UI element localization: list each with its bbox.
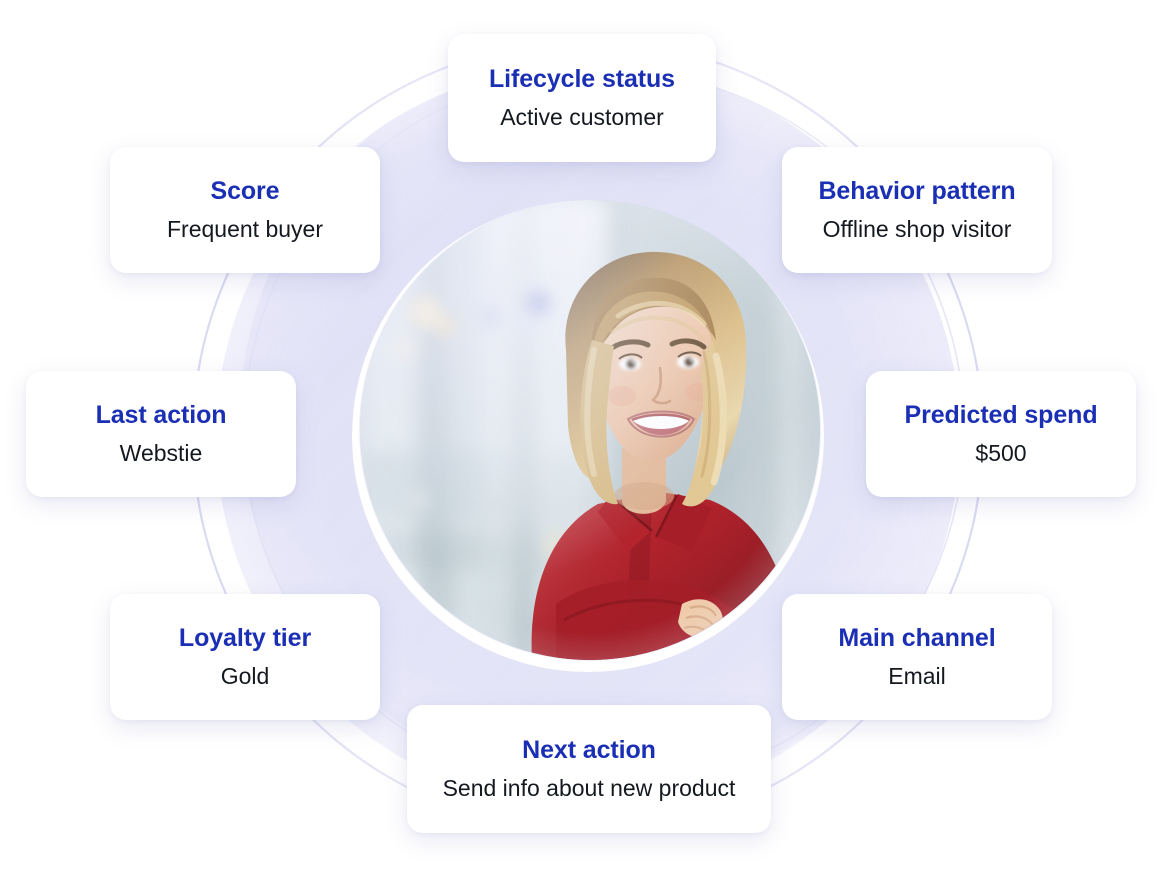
card-title: Main channel	[838, 623, 995, 653]
card-value: Send info about new product	[443, 774, 736, 803]
card-value: Gold	[221, 662, 270, 691]
card-title: Behavior pattern	[818, 176, 1015, 206]
card-value: Active customer	[500, 103, 664, 132]
card-title: Next action	[522, 735, 656, 765]
avatar	[360, 200, 820, 660]
card-last-action[interactable]: Last action Webstie	[26, 371, 296, 497]
card-next-action[interactable]: Next action Send info about new product	[407, 705, 771, 833]
card-value: $500	[975, 439, 1026, 468]
card-predicted-spend[interactable]: Predicted spend $500	[866, 371, 1136, 497]
photo-vignette	[360, 200, 820, 660]
card-main-channel[interactable]: Main channel Email	[782, 594, 1052, 720]
card-title: Loyalty tier	[179, 623, 311, 653]
card-title: Lifecycle status	[489, 64, 675, 94]
card-value: Frequent buyer	[167, 215, 323, 244]
card-value: Offline shop visitor	[823, 215, 1012, 244]
card-value: Webstie	[120, 439, 203, 468]
card-behavior-pattern[interactable]: Behavior pattern Offline shop visitor	[782, 147, 1052, 273]
customer-profile-infographic: Lifecycle status Active customer Score F…	[0, 0, 1169, 873]
card-lifecycle-status[interactable]: Lifecycle status Active customer	[448, 34, 716, 162]
card-title: Score	[211, 176, 280, 206]
card-value: Email	[888, 662, 946, 691]
card-score[interactable]: Score Frequent buyer	[110, 147, 380, 273]
card-title: Predicted spend	[905, 400, 1098, 430]
card-loyalty-tier[interactable]: Loyalty tier Gold	[110, 594, 380, 720]
card-title: Last action	[96, 400, 227, 430]
